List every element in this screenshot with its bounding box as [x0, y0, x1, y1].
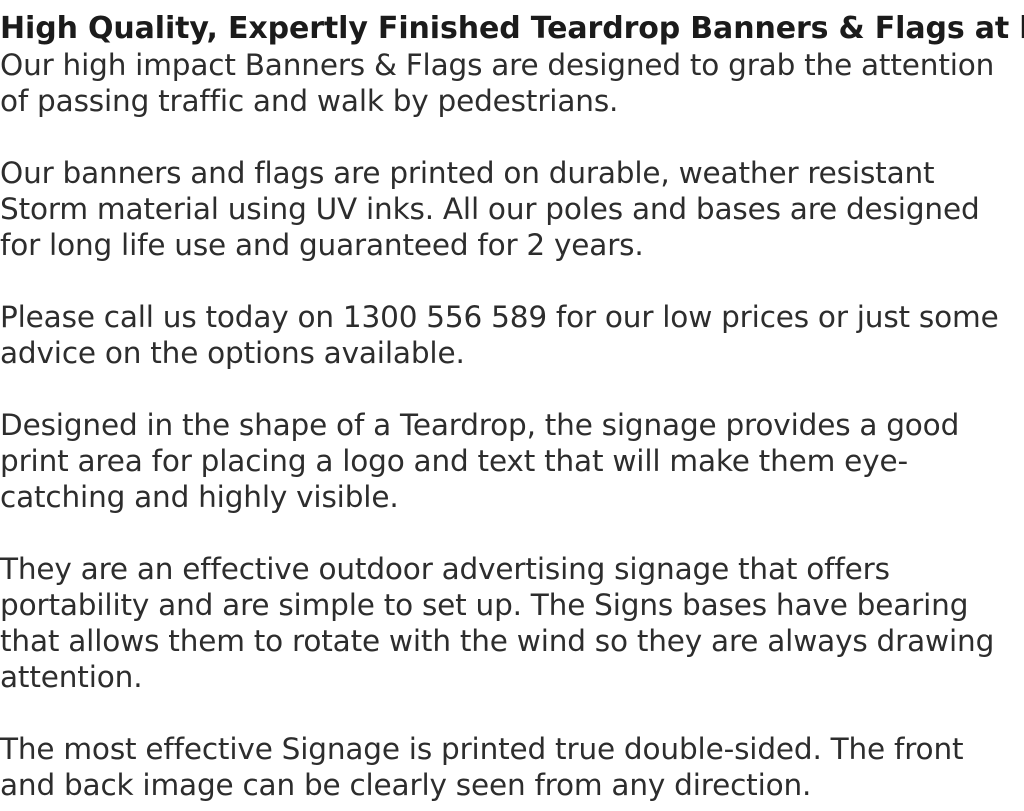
description-paragraph-3-contact: Please call us today on 1300 556 589 for…	[0, 299, 1016, 371]
paragraph-spacer	[0, 695, 1016, 731]
description-paragraph-4: Designed in the shape of a Teardrop, the…	[0, 407, 1016, 515]
product-description-document: High Quality, Expertly Finished Teardrop…	[0, 0, 1024, 811]
description-paragraph-2: Our banners and flags are printed on dur…	[0, 155, 1016, 263]
description-content: High Quality, Expertly Finished Teardrop…	[0, 11, 1016, 803]
description-paragraph-1: Our high impact Banners & Flags are desi…	[0, 47, 1016, 119]
description-paragraph-6: The most effective Signage is printed tr…	[0, 731, 1016, 803]
paragraph-spacer	[0, 263, 1016, 299]
page-title: High Quality, Expertly Finished Teardrop…	[0, 11, 1016, 47]
paragraph-spacer	[0, 371, 1016, 407]
paragraph-spacer	[0, 119, 1016, 155]
paragraph-spacer	[0, 515, 1016, 551]
description-paragraph-5: They are an effective outdoor advertisin…	[0, 551, 1016, 695]
